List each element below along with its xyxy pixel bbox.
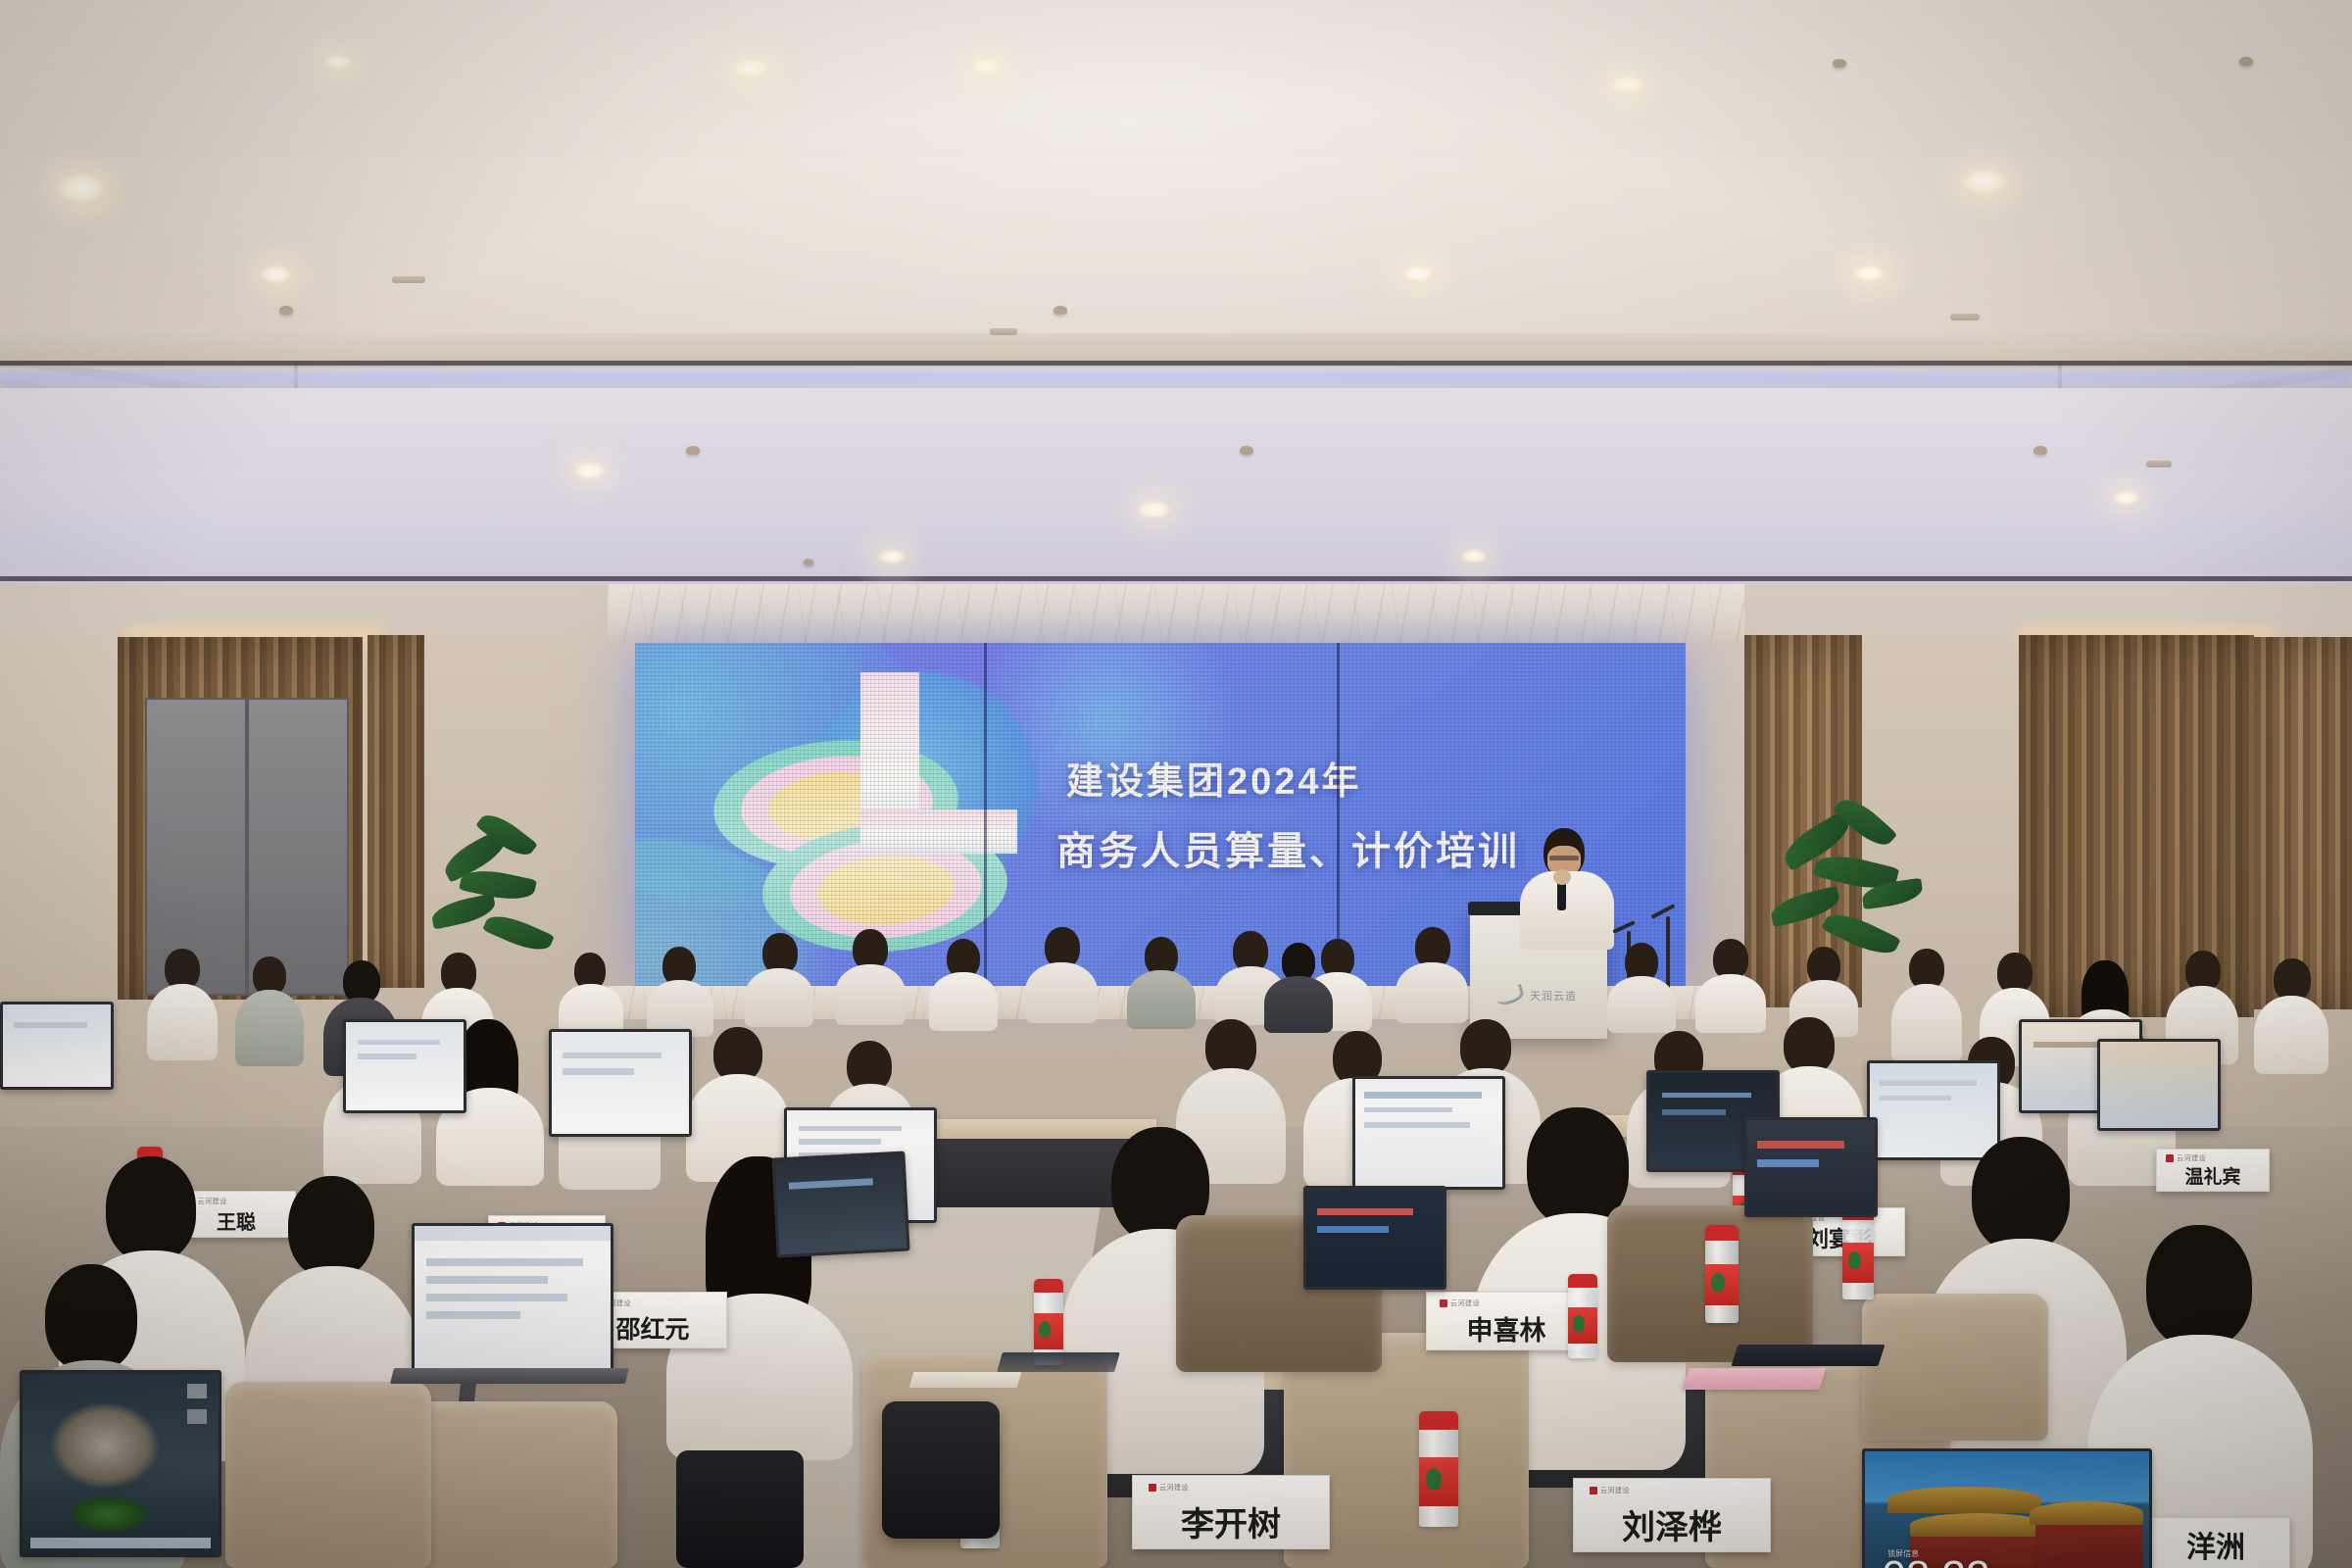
- name-card-brand: 云河建设: [1149, 1483, 1189, 1493]
- water-bottle: [1842, 1205, 1874, 1299]
- air-vent: [1950, 314, 1980, 320]
- name-card: 云河建设 申喜林: [1426, 1292, 1587, 1350]
- speaker-hand: [1553, 869, 1571, 885]
- screen-panel-seam: [984, 643, 987, 986]
- name-card-name: 刘泽桦: [1574, 1500, 1770, 1548]
- name-card: 云河建设 李开树: [1132, 1475, 1330, 1549]
- ceiling-lower-plane: [0, 388, 2352, 584]
- screen-logo-l-foot: [860, 809, 1017, 854]
- name-card: 云河建设 温礼宾: [2156, 1149, 2270, 1192]
- air-vent: [990, 328, 1017, 335]
- folder-dark: [997, 1352, 1120, 1372]
- paper-stack: [909, 1372, 1022, 1388]
- marble-header-band: [608, 584, 1744, 643]
- name-card-name: 李开树: [1133, 1497, 1329, 1545]
- screen-panel-seam: [1337, 643, 1340, 986]
- downlight: [730, 57, 771, 78]
- glasses-icon: [1549, 856, 1579, 860]
- name-card-brand: 云河建设: [1440, 1298, 1480, 1308]
- screen-logo: [704, 662, 1027, 947]
- laptop-screen-lockscreen[interactable]: 锁屏信息 08:32: [1862, 1448, 2152, 1568]
- paper-stack-pink: [1682, 1368, 1826, 1390]
- desktop-icon[interactable]: [187, 1384, 207, 1398]
- water-bottle: [1419, 1411, 1458, 1527]
- downlight: [877, 549, 906, 564]
- ceiling-soffit: [0, 333, 2352, 363]
- downlight: [55, 171, 108, 205]
- downlight: [1960, 167, 2009, 196]
- sprinkler-icon: [686, 446, 700, 455]
- downlight: [1607, 73, 1646, 95]
- taskbar[interactable]: [30, 1538, 211, 1548]
- downlight: [1401, 265, 1435, 282]
- laptop-screen[interactable]: [549, 1029, 692, 1137]
- brand-mark-icon: [2166, 1154, 2174, 1162]
- laptop-screen[interactable]: [0, 1002, 114, 1090]
- screen-title-line2: 商务人员算量、计价培训: [1056, 819, 1520, 876]
- downlight: [970, 57, 1004, 74]
- backpack: [882, 1401, 1000, 1539]
- backpack: [676, 1450, 804, 1568]
- downlight: [573, 461, 607, 480]
- air-vent: [2146, 461, 2172, 467]
- laptop-screen[interactable]: [343, 1019, 466, 1113]
- desktop-icon[interactable]: [187, 1409, 207, 1424]
- brand-mark-icon: [1590, 1487, 1597, 1494]
- name-card: 云河建设 刘泽桦: [1573, 1478, 1771, 1552]
- sprinkler-icon: [1053, 306, 1067, 315]
- conference-room-photo: 建设集团2024年 商务人员算量、计价培训 天润云造: [0, 0, 2352, 1568]
- laptop-screen[interactable]: [1744, 1117, 1878, 1217]
- sprinkler-icon: [279, 306, 293, 315]
- name-card-brand: 云河建设: [1590, 1486, 1630, 1495]
- screen-title-line1: 建设集团2024年: [1066, 751, 1362, 805]
- chair[interactable]: [225, 1382, 431, 1568]
- name-card-name: 温礼宾: [2157, 1162, 2269, 1189]
- downlight: [2112, 490, 2141, 506]
- app-toolbar[interactable]: [415, 1226, 611, 1241]
- chair[interactable]: [1862, 1294, 2048, 1441]
- laptop-screen-document[interactable]: [412, 1223, 613, 1376]
- brand-mark-icon: [1440, 1299, 1447, 1307]
- air-vent: [392, 276, 425, 283]
- speaker-presenter: [1514, 828, 1622, 946]
- lockscreen-time: 08:32: [1882, 1552, 1989, 1568]
- sprinkler-icon: [1833, 59, 1846, 68]
- downlight: [1137, 500, 1172, 519]
- sprinkler-icon: [2033, 446, 2047, 455]
- downlight: [1460, 549, 1488, 563]
- laptop-keyboard-base[interactable]: [390, 1368, 629, 1384]
- laptop-screen[interactable]: [1303, 1186, 1446, 1290]
- folder-dark: [1731, 1345, 1885, 1366]
- sprinkler-icon: [1240, 446, 1253, 455]
- name-card-name: 申喜林: [1427, 1309, 1586, 1347]
- door-panel[interactable]: [247, 698, 349, 996]
- downlight: [323, 54, 353, 70]
- sprinkler-icon: [2239, 57, 2253, 66]
- downlight: [1852, 265, 1886, 282]
- ceiling-reveal-line: [0, 361, 2352, 366]
- name-card: 洋洲: [2141, 1517, 2290, 1568]
- brand-mark-icon: [1149, 1484, 1156, 1492]
- lectern-logo-text: 天润云造: [1530, 988, 1577, 1004]
- downlight: [260, 265, 293, 284]
- water-bottle: [1568, 1274, 1597, 1358]
- owl-wallpaper: [23, 1373, 219, 1554]
- water-bottle: [1705, 1225, 1739, 1323]
- laptop-screen-owl[interactable]: [20, 1370, 221, 1557]
- wall-slat-panel-far-right: [2254, 637, 2352, 1009]
- lectern-logo: 天润云造: [1495, 988, 1577, 1004]
- laptop-screen[interactable]: [2097, 1039, 2221, 1131]
- wall-slat-panel-left-edge: [367, 635, 424, 988]
- name-card-name: 洋洲: [2142, 1523, 2289, 1566]
- sprinkler-icon: [804, 559, 813, 565]
- swoosh-icon: [1494, 984, 1526, 1007]
- ceiling-reveal-line-2: [0, 576, 2352, 581]
- laptop-screen[interactable]: [771, 1151, 909, 1258]
